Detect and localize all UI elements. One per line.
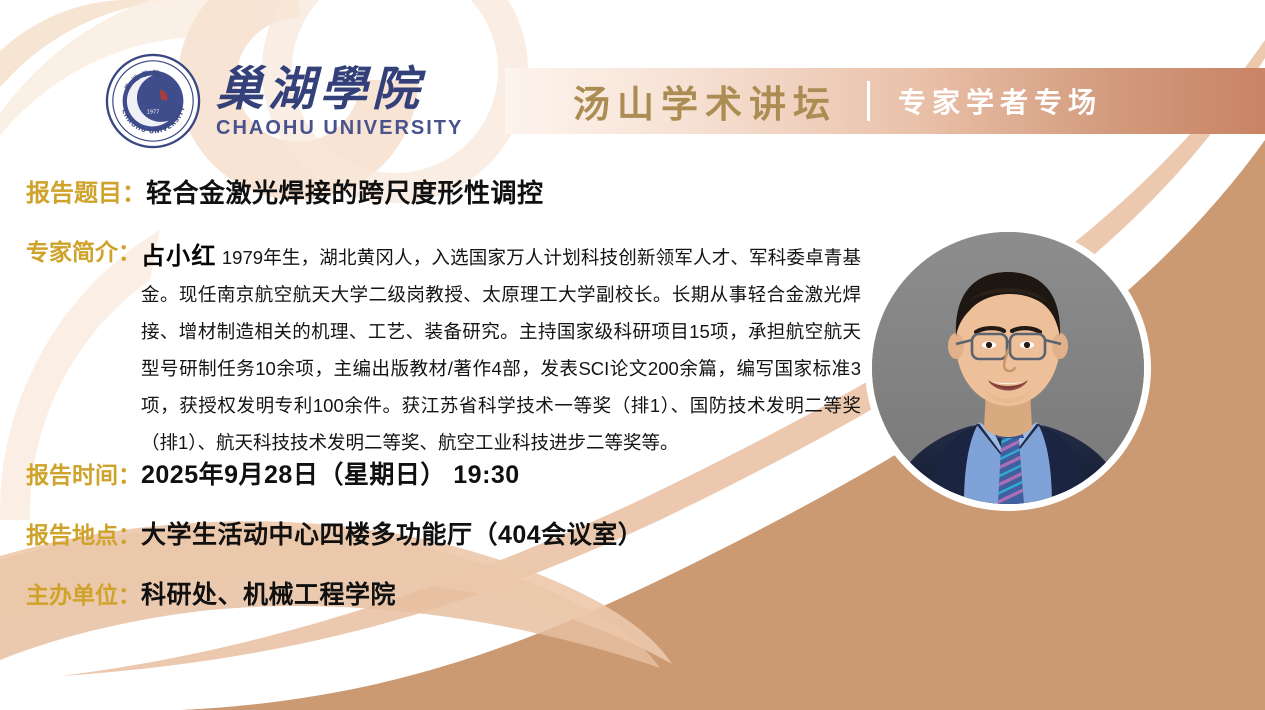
forum-banner-subtitle: 专家学者专场 (898, 81, 1102, 121)
lecture-time-value: 2025年9月28日（星期日） 19:30 (141, 460, 520, 490)
lecture-place-label: 报告地点： (26, 521, 141, 550)
lecture-time-row: 报告时间： 2025年9月28日（星期日） 19:30 (26, 460, 520, 490)
lecture-host-row: 主办单位： 科研处、机械工程学院 (26, 580, 396, 610)
lecture-place-value: 大学生活动中心四楼多功能厅（404会议室） (141, 520, 643, 550)
speaker-bio-label: 专家简介： (26, 238, 141, 267)
lecture-place-row: 报告地点： 大学生活动中心四楼多功能厅（404会议室） (26, 520, 643, 550)
university-name-en: CHAOHU UNIVERSITY (216, 117, 463, 140)
lecture-poster: 1977 巢 湖 學 院 CHAOHU UNIVERSITY 巢湖學院 CHAO… (0, 0, 1265, 710)
banner-divider (867, 81, 870, 121)
lecture-host-label: 主办单位： (26, 581, 141, 610)
svg-text:1977: 1977 (147, 110, 159, 116)
speaker-bio-paragraph: 占小红 1979年生，湖北黄冈人，入选国家万人计划科技创新领军人才、军科委卓青基… (141, 238, 861, 461)
speaker-bio-text: 1979年生，湖北黄冈人，入选国家万人计划科技创新领军人才、军科委卓青基金。现任… (141, 247, 861, 453)
university-name-cn: 巢湖學院 (216, 66, 424, 115)
speaker-portrait-image (872, 232, 1144, 504)
lecture-title-label: 报告题目： (26, 179, 146, 209)
lecture-time-label: 报告时间： (26, 461, 141, 490)
lecture-title-value: 轻合金激光焊接的跨尺度形性调控 (146, 178, 544, 209)
speaker-bio-body: 占小红 1979年生，湖北黄冈人，入选国家万人计划科技创新领军人才、军科委卓青基… (141, 238, 861, 461)
forum-banner: 汤山学术讲坛 专家学者专场 (505, 68, 1265, 134)
university-logo-block: 1977 巢 湖 學 院 CHAOHU UNIVERSITY 巢湖學院 CHAO… (104, 52, 463, 150)
chaohu-university-seal-icon: 1977 巢 湖 學 院 CHAOHU UNIVERSITY (104, 52, 202, 150)
lecture-host-value: 科研处、机械工程学院 (141, 580, 396, 610)
speaker-name: 占小红 (141, 243, 217, 270)
forum-banner-title: 汤山学术讲坛 (573, 74, 837, 128)
poster-header: 1977 巢 湖 學 院 CHAOHU UNIVERSITY 巢湖學院 CHAO… (0, 0, 1265, 160)
university-wordmark: 巢湖學院 CHAOHU UNIVERSITY (216, 66, 463, 140)
speaker-bio-row: 专家简介： 占小红 1979年生，湖北黄冈人，入选国家万人计划科技创新领军人才、… (26, 238, 861, 461)
lecture-title-row: 报告题目： 轻合金激光焊接的跨尺度形性调控 (26, 178, 544, 209)
speaker-portrait (872, 232, 1144, 504)
